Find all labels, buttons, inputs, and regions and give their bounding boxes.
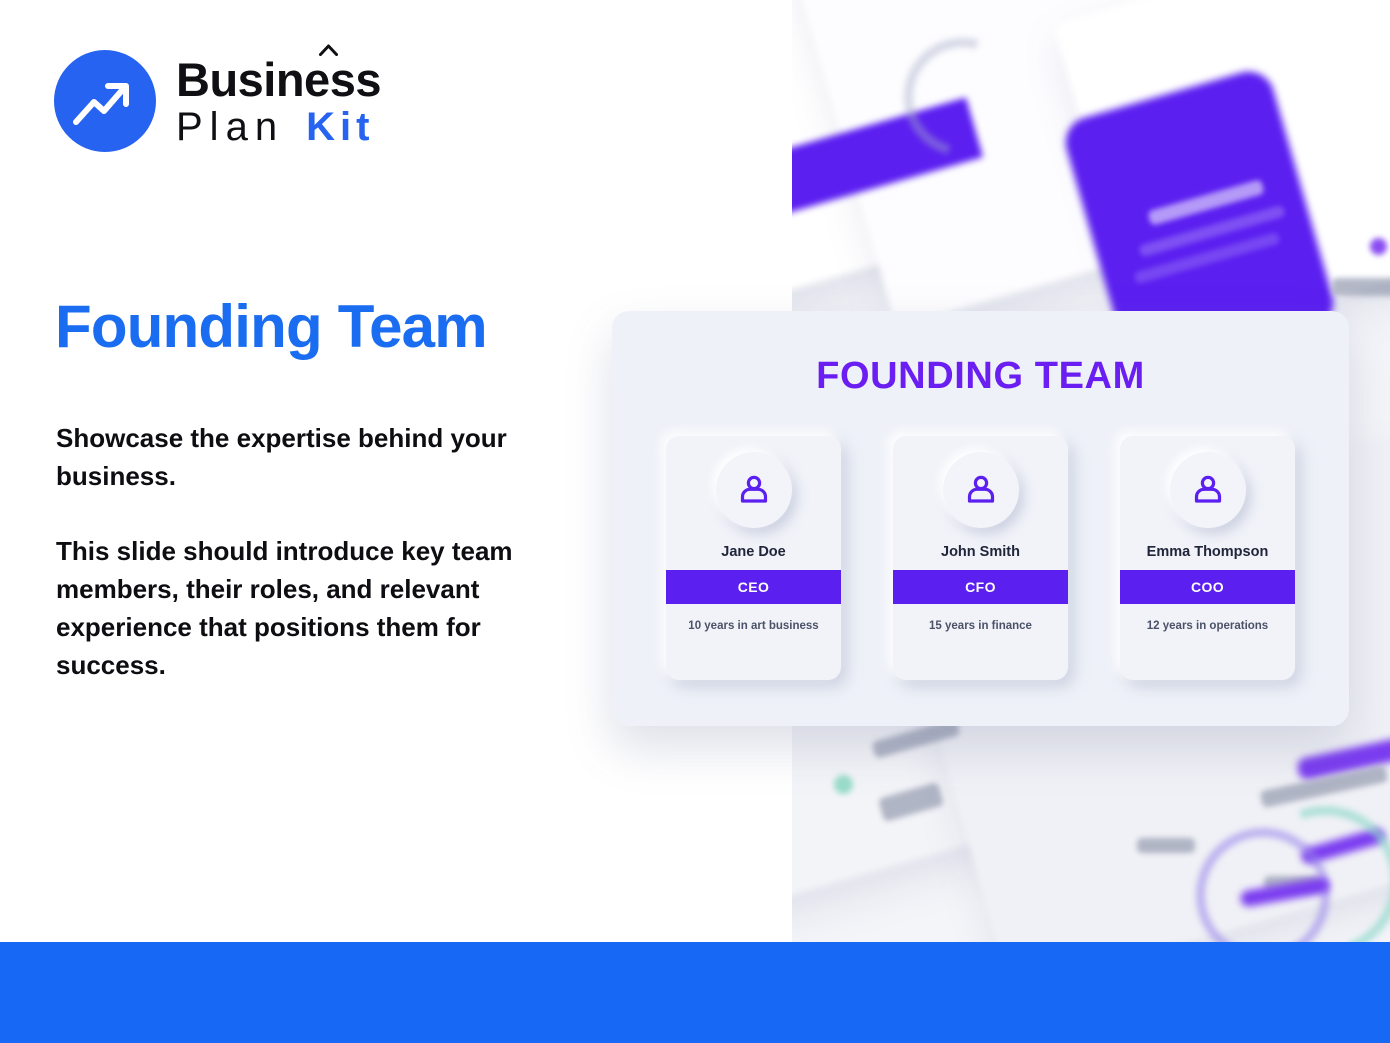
brand-name-line2: Plan Kit [176,107,381,147]
brand-logo: Business Plan Kit [54,50,381,152]
decorative-dot [834,775,853,794]
brand-word-plan: Plan [176,107,284,147]
slide-preview-title: FOUNDING TEAM [612,355,1349,398]
team-member-experience: 10 years in art business [666,620,841,632]
intro-body-text: This slide should introduce key team mem… [56,533,576,685]
person-icon [943,452,1019,528]
brand-name-line1: Business [176,57,381,103]
slide-page: Business Plan Kit Founding Team Showcase… [0,0,1390,1043]
team-member-name: Emma Thompson [1120,544,1295,560]
slide-preview-card[interactable]: FOUNDING TEAM Jane Doe CEO 10 years in a… [612,311,1349,726]
intro-lead-text: Showcase the expertise behind your busin… [56,420,576,496]
team-member-card[interactable]: Emma Thompson COO 12 years in operations [1120,436,1295,680]
team-member-card[interactable]: Jane Doe CEO 10 years in art business [666,436,841,680]
team-member-list: Jane Doe CEO 10 years in art business Jo… [612,436,1349,680]
avatar-wrap [893,436,1068,528]
page-title: Founding Team [55,295,487,358]
decorative-chip [1332,278,1390,296]
team-member-role-badge: CEO [666,570,841,604]
team-member-role-badge: CFO [893,570,1068,604]
avatar-wrap [1120,436,1295,528]
person-icon [1170,452,1246,528]
team-member-experience: 12 years in operations [1120,620,1295,632]
brand-wordmark: Business Plan Kit [176,55,381,146]
brand-word-kit: Kit [306,107,374,147]
trend-arrow-up-icon [54,50,156,152]
team-member-name: John Smith [893,544,1068,560]
person-icon [716,452,792,528]
team-member-role-badge: COO [1120,570,1295,604]
decorative-chip [1137,838,1195,853]
avatar-wrap [666,436,841,528]
team-member-experience: 15 years in finance [893,620,1068,632]
decorative-dot [1370,238,1387,255]
footer-bar [0,942,1390,1043]
team-member-name: Jane Doe [666,544,841,560]
team-member-card[interactable]: John Smith CFO 15 years in finance [893,436,1068,680]
